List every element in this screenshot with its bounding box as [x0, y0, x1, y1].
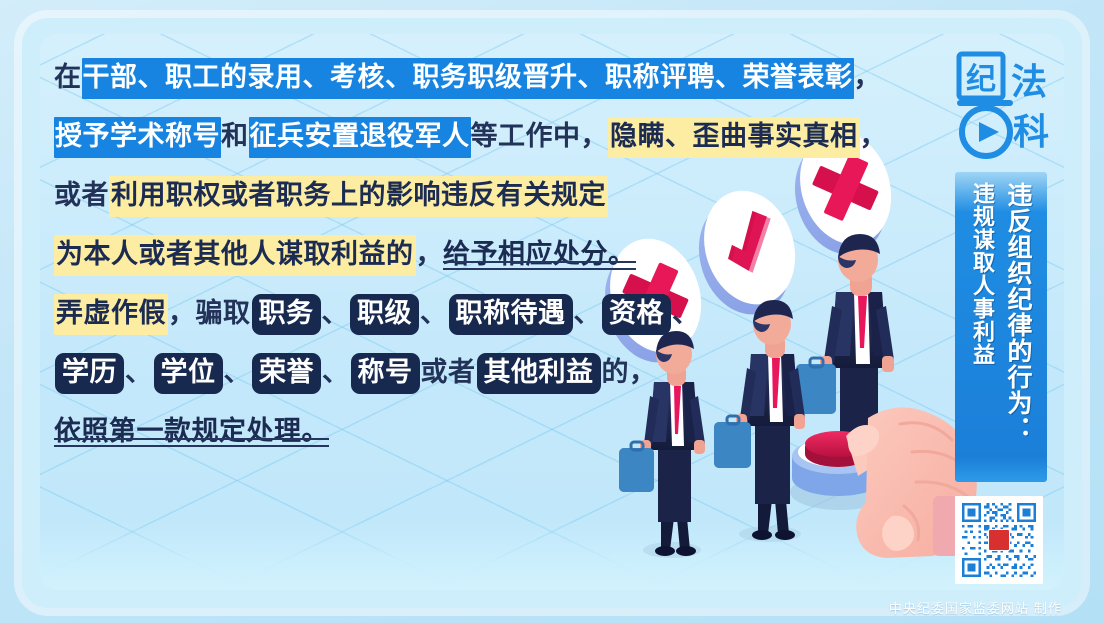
- floor-glow: [40, 520, 1064, 590]
- right-rail: 纪 法 科 违反组织纪律的行为： 违规谋取人事利益: [955, 48, 1055, 584]
- line-2: 授予学术称号和征兵安置退役军人等工作中，隐瞒、歪曲事实真相，: [54, 107, 884, 166]
- text-segment-plain: 、: [322, 298, 350, 329]
- legal-text-block: 在干部、职工的录用、考核、职务职级晋升、职称评聘、荣誉表彰，授予学术称号和征兵安…: [54, 48, 884, 461]
- text-segment-plain: 、: [672, 298, 700, 329]
- text-segment-chip: 职称待遇: [449, 294, 573, 335]
- text-segment-hl-yellow: 弄虚作假: [54, 294, 168, 335]
- text-segment-plain: 、: [420, 298, 448, 329]
- qr-code[interactable]: [955, 496, 1043, 584]
- line-1: 在干部、职工的录用、考核、职务职级晋升、职称评聘、荣誉表彰，: [54, 48, 884, 107]
- text-segment-plain: 在: [54, 62, 82, 93]
- text-segment-hl-blue: 干部、职工的录用、考核、职务职级晋升、职称评聘、荣誉表彰: [82, 58, 854, 99]
- text-segment-plain: 、: [125, 357, 153, 388]
- banner-subhead: 违规谋取人事利益: [966, 182, 998, 482]
- text-segment-plain: 的，: [602, 357, 657, 388]
- text-segment-plain: 等工作中，: [471, 121, 609, 152]
- text-segment-plain: 、: [224, 357, 252, 388]
- qr-center-badge: [988, 529, 1010, 551]
- text-segment-plain: 或者: [54, 180, 109, 211]
- text-segment-dbl-underline: 给予相应处分。: [443, 239, 636, 272]
- text-segment-chip: 职级: [350, 294, 419, 335]
- text-segment-hl-yellow: 隐瞒、歪曲事实真相: [608, 117, 860, 158]
- logo-char-ke: 科: [1013, 111, 1049, 153]
- text-segment-hl-yellow: 利用职权或者职务上的影响违反有关规定: [109, 176, 608, 217]
- text-segment-chip: 称号: [351, 353, 420, 394]
- text-segment-chip: 学位: [154, 353, 223, 394]
- text-segment-plain: 、: [322, 357, 350, 388]
- line-7: 依照第一款规定处理。: [54, 402, 884, 461]
- text-segment-hl-yellow: 为本人或者其他人谋取利益的: [54, 235, 416, 276]
- logo-char-ji: 纪: [966, 62, 996, 97]
- footer-credit: 中央纪委国家监委网站 制作: [889, 598, 1062, 617]
- text-segment-chip: 其他利益: [477, 353, 601, 394]
- text-segment-plain: ，: [854, 62, 882, 93]
- text-segment-plain: 和: [221, 121, 249, 152]
- text-segment-hl-blue: 征兵安置退役军人: [249, 117, 471, 158]
- play-triangle-icon: [979, 122, 999, 142]
- text-segment-plain: 或者: [421, 357, 476, 388]
- text-segment-chip: 学历: [55, 353, 124, 394]
- text-segment-chip: 资格: [602, 294, 671, 335]
- text-segment-plain: ，: [860, 121, 888, 152]
- logo-char-fa: 法: [1011, 61, 1047, 103]
- line-3: 或者利用职权或者职务上的影响违反有关规定: [54, 166, 884, 225]
- topic-banner: 违反组织纪律的行为： 违规谋取人事利益: [955, 172, 1047, 482]
- text-segment-plain: ，骗取: [168, 298, 251, 329]
- line-6: 学历、学位、荣誉、称号或者其他利益的，: [54, 343, 884, 402]
- text-segment-plain: 、: [574, 298, 602, 329]
- line-5: 弄虚作假，骗取职务、职级、职称待遇、资格、: [54, 284, 884, 343]
- text-segment-dbl-underline: 依照第一款规定处理。: [54, 416, 329, 449]
- infographic-poster: 在干部、职工的录用、考核、职务职级晋升、职称评聘、荣誉表彰，授予学术称号和征兵安…: [0, 0, 1104, 623]
- banner-headline: 违反组织纪律的行为：: [1000, 182, 1036, 482]
- text-segment-plain: ，: [416, 239, 444, 270]
- text-segment-chip: 荣誉: [252, 353, 321, 394]
- program-logo[interactable]: 纪 法 科: [955, 48, 1055, 166]
- line-4: 为本人或者其他人谋取利益的，给予相应处分。: [54, 225, 884, 284]
- text-segment-chip: 职务: [252, 294, 321, 335]
- text-segment-hl-blue: 授予学术称号: [54, 117, 221, 158]
